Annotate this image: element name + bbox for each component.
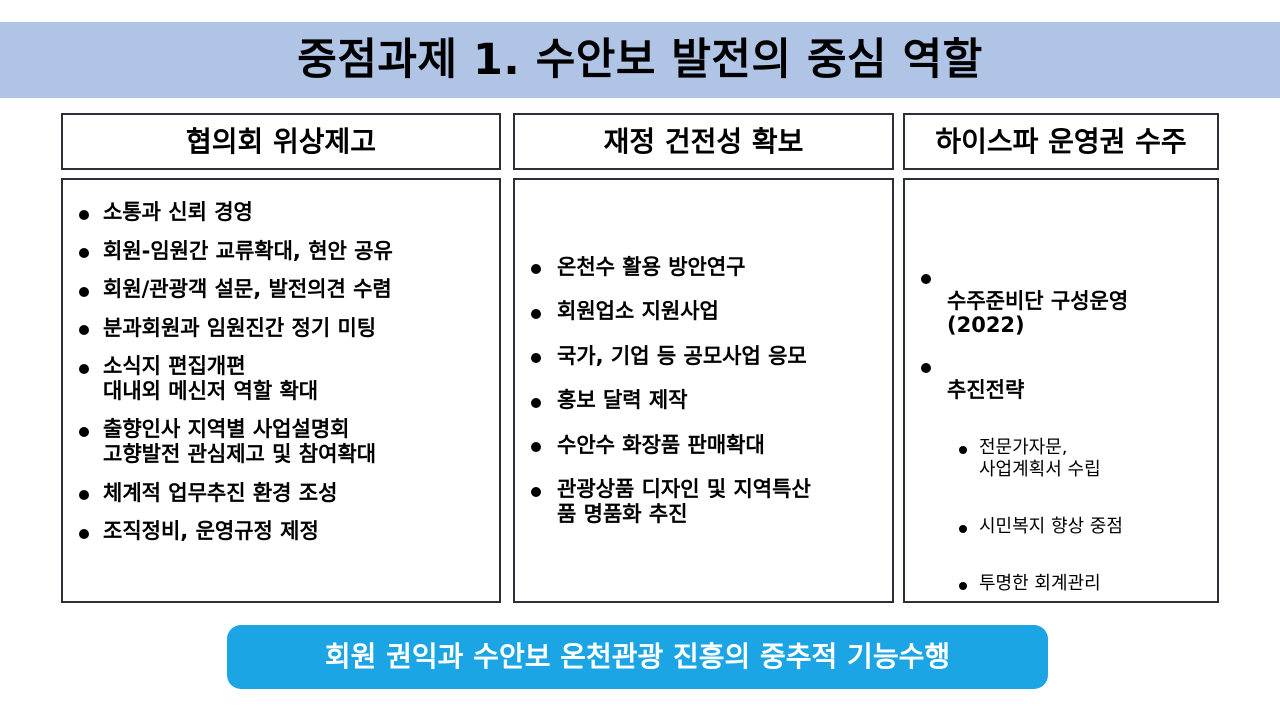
list-item: 홍보 달력 제작 <box>521 388 886 413</box>
list-item-text: 수주준비단 구성운영 (2022) <box>947 289 1128 338</box>
page-title: 중점과제 1. 수안보 발전의 중심 역할 <box>297 39 982 82</box>
column-header-3: 하이스파 운영권 수주 <box>903 113 1219 170</box>
column-body-2: 온천수 활용 방안연구 회원업소 지원사업 국가, 기업 등 공모사업 응모 홍… <box>513 178 894 603</box>
summary-banner: 회원 권익과 수안보 온천관광 진흥의 중추적 기능수행 <box>227 625 1048 689</box>
list-item: 관광상품 디자인 및 지역특산 품 명품화 추진 <box>521 477 886 526</box>
column-header-1-label: 협의회 위상제고 <box>186 128 376 156</box>
sub-list-item: 전문가자문, 사업계획서 수립 <box>947 437 1211 480</box>
list-item: 체계적 업무추진 환경 조성 <box>69 481 493 506</box>
column-header-3-label: 하이스파 운영권 수주 <box>935 128 1186 156</box>
bullet-list-2: 온천수 활용 방안연구 회원업소 지원사업 국가, 기업 등 공모사업 응모 홍… <box>521 255 886 527</box>
list-item: 추진전략 전문가자문, 사업계획서 수립 시민복지 향상 중점 투명한 회계관리 <box>911 354 1211 644</box>
list-item: 출향인사 지역별 사업설명회 고향발전 관심제고 및 참여확대 <box>69 417 493 466</box>
column-header-2-label: 재정 건전성 확보 <box>604 128 804 156</box>
column-header-1: 협의회 위상제고 <box>61 113 501 170</box>
column-council-status: 협의회 위상제고 소통과 신뢰 경영 회원-임원간 교류확대, 현안 공유 회원… <box>61 113 501 603</box>
sub-bullet-list: 전문가자문, 사업계획서 수립 시민복지 향상 중점 투명한 회계관리 <box>947 413 1211 620</box>
list-item: 소식지 편집개편 대내외 메신저 역할 확대 <box>69 354 493 403</box>
column-header-2: 재정 건전성 확보 <box>513 113 894 170</box>
column-hispa-operation-rights: 하이스파 운영권 수주 수주준비단 구성운영 (2022) 추진전략 전문가자문… <box>903 113 1219 603</box>
sub-list-item: 투명한 회계관리 <box>947 573 1211 595</box>
list-item: 국가, 기업 등 공모사업 응모 <box>521 344 886 369</box>
list-item: 회원/관광객 설문, 발전의견 수렴 <box>69 277 493 302</box>
list-item: 분과회원과 임원진간 정기 미팅 <box>69 316 493 341</box>
list-item: 조직정비, 운영규정 제정 <box>69 519 493 544</box>
list-item: 수안수 화장품 판매확대 <box>521 433 886 458</box>
list-item-text: 추진전략 <box>947 378 1024 402</box>
summary-banner-label: 회원 권익과 수안보 온천관광 진흥의 중추적 기능수행 <box>325 643 950 671</box>
list-item: 온천수 활용 방안연구 <box>521 255 886 280</box>
column-body-3: 수주준비단 구성운영 (2022) 추진전략 전문가자문, 사업계획서 수립 시… <box>903 178 1219 603</box>
list-item: 회원업소 지원사업 <box>521 299 886 324</box>
column-body-1: 소통과 신뢰 경영 회원-임원간 교류확대, 현안 공유 회원/관광객 설문, … <box>61 178 501 603</box>
column-financial-soundness: 재정 건전성 확보 온천수 활용 방안연구 회원업소 지원사업 국가, 기업 등… <box>513 113 894 603</box>
list-item: 수주준비단 구성운영 (2022) <box>911 264 1211 338</box>
list-item: 소통과 신뢰 경영 <box>69 200 493 225</box>
strategy-columns: 협의회 위상제고 소통과 신뢰 경영 회원-임원간 교류확대, 현안 공유 회원… <box>0 113 1280 603</box>
list-item: 회원-임원간 교류확대, 현안 공유 <box>69 239 493 264</box>
bullet-list-3: 수주준비단 구성운영 (2022) 추진전략 전문가자문, 사업계획서 수립 시… <box>911 264 1211 644</box>
bullet-list-1: 소통과 신뢰 경영 회원-임원간 교류확대, 현안 공유 회원/관광객 설문, … <box>69 200 493 544</box>
sub-list-item: 시민복지 향상 중점 <box>947 516 1211 538</box>
slide-title-banner: 중점과제 1. 수안보 발전의 중심 역할 <box>0 22 1280 98</box>
